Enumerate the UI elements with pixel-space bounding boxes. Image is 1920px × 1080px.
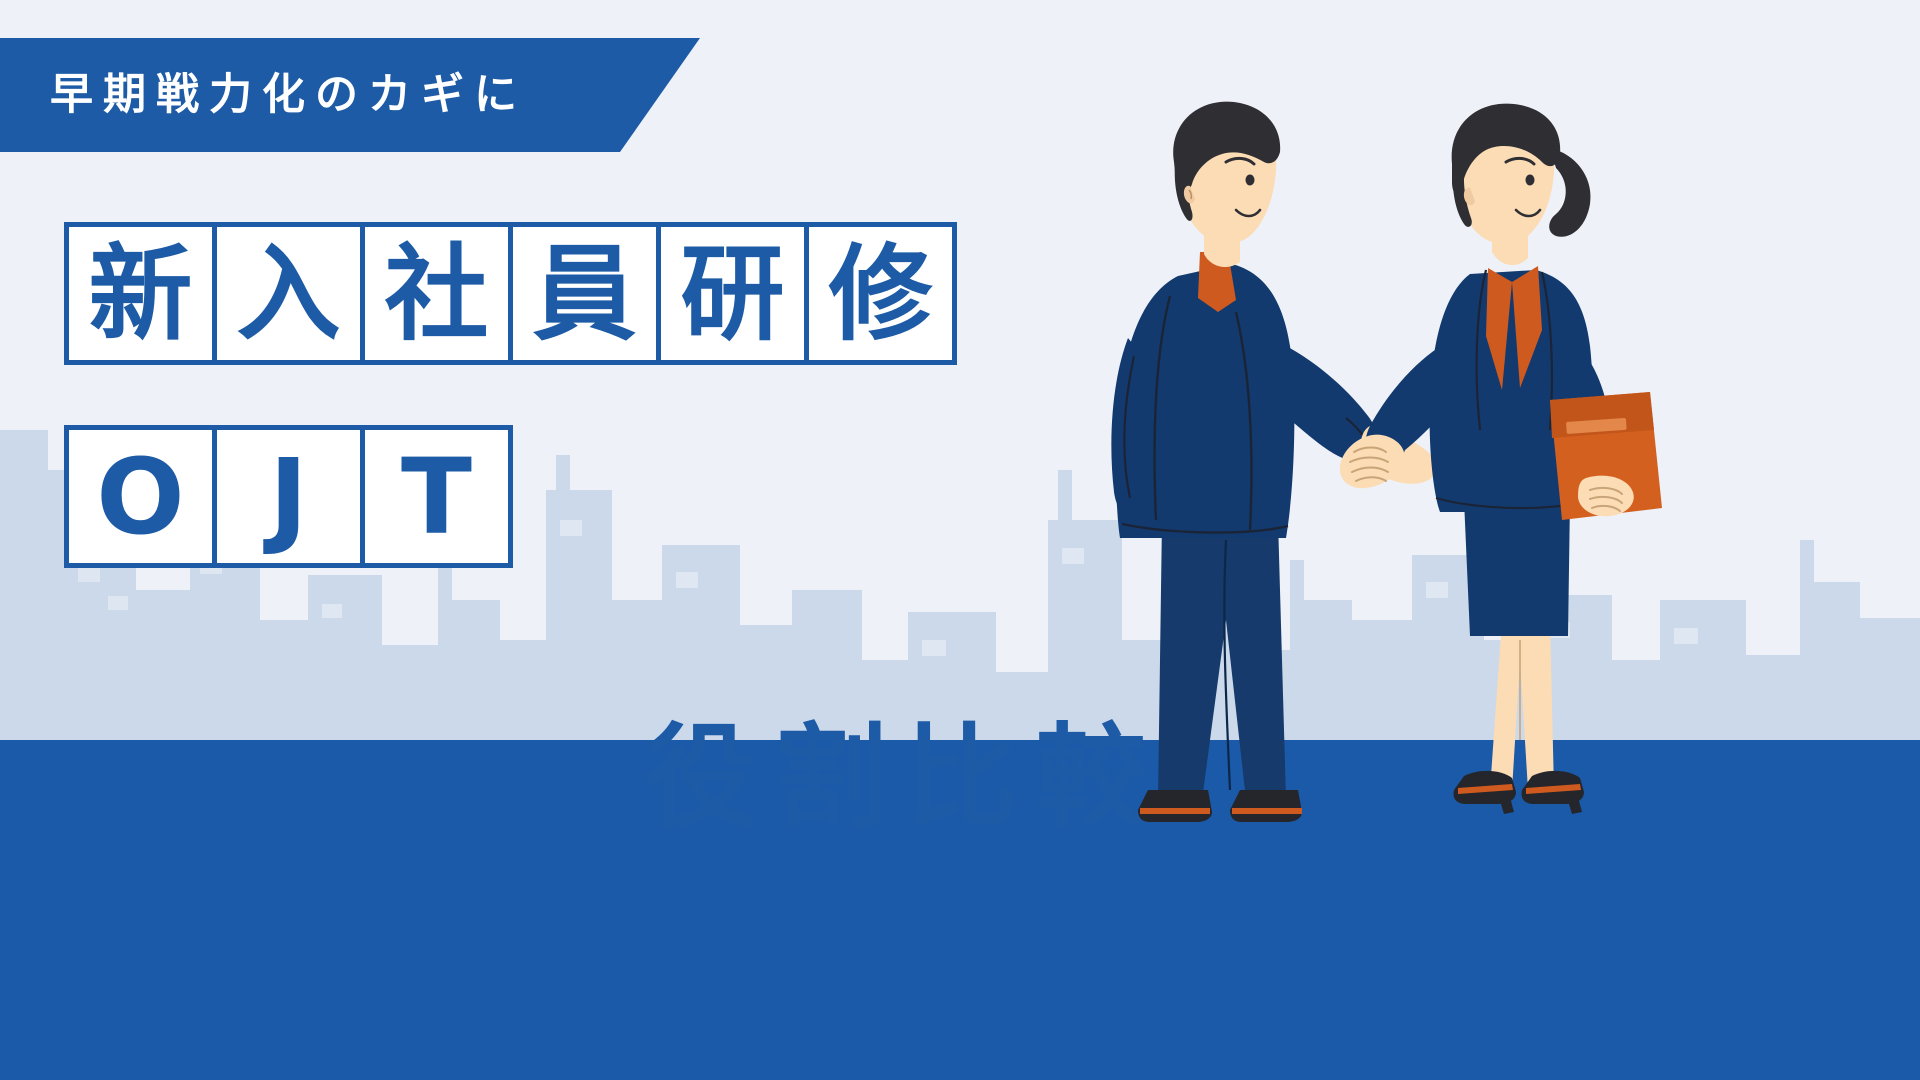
kanji-char: 社 [384,242,488,346]
kanji-char: 修 [828,242,932,346]
kanji-box: 入 [212,222,365,365]
kanji-char: 入 [236,242,340,346]
letter-char: J [269,445,308,549]
headline-row-ojt: O J T [64,425,508,568]
letter-box: J [212,425,365,568]
kanji-char: 新 [88,242,192,346]
ribbon-banner: 早期戦力化のカギに [0,38,700,152]
kanji-char: 員 [532,242,636,346]
letter-char: O [96,445,184,549]
letter-box: T [360,425,513,568]
kanji-box: 修 [804,222,957,365]
letter-char: T [401,445,472,549]
kanji-char: 研 [680,242,784,346]
ribbon-label: 早期戦力化のカギに [0,74,527,117]
businesswoman-figure [1340,104,1662,814]
kanji-box: 新 [64,222,217,365]
kanji-box: 研 [656,222,809,365]
poster-canvas: 早期戦力化のカギに 新 入 社 員 研 修 O J T [0,0,1920,1080]
kanji-box: 社 [360,222,513,365]
letter-box: O [64,425,217,568]
handshake-illustration [1050,100,1690,860]
headline-row-shinnyushain-kenshu: 新 入 社 員 研 修 [64,222,952,365]
kanji-box: 員 [508,222,661,365]
